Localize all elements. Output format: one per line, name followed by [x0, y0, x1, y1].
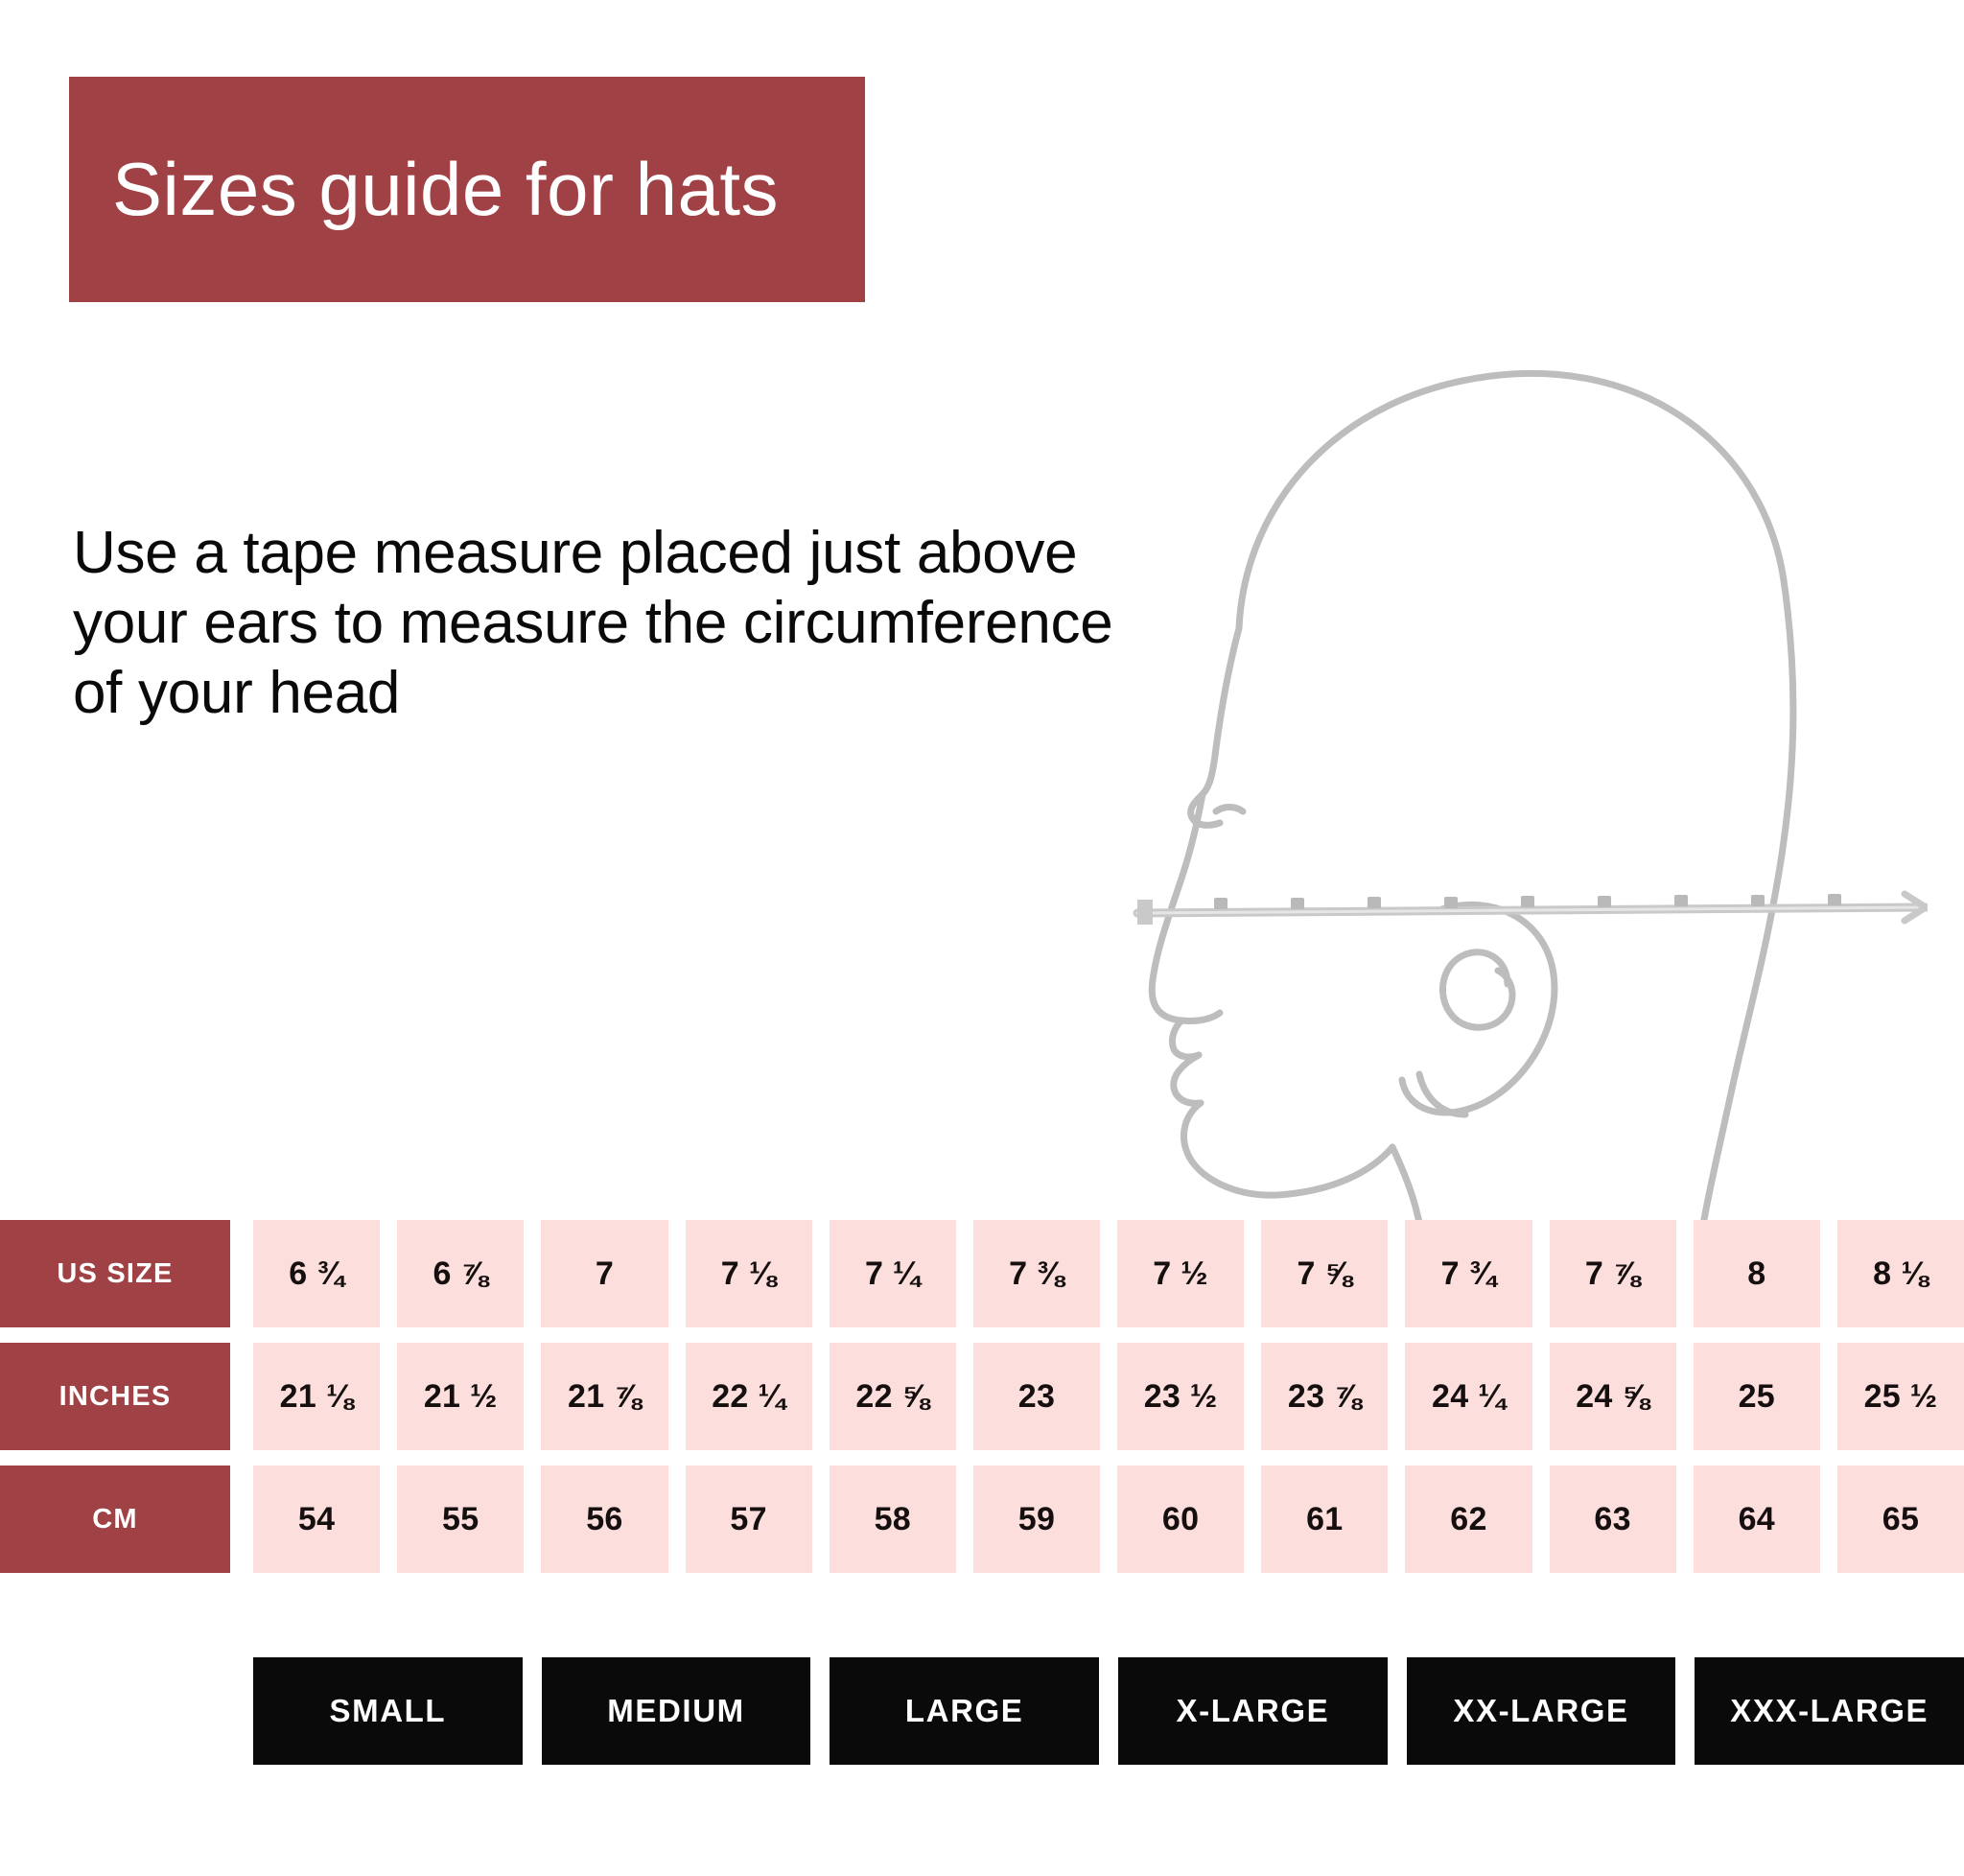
table-cell: 57 [686, 1466, 812, 1573]
table-cell: 23 [973, 1343, 1100, 1450]
table-cell: 7 ⅛ [686, 1220, 812, 1327]
table-cell: 23 ⅞ [1261, 1343, 1388, 1450]
table-cell: 8 ⅛ [1837, 1220, 1964, 1327]
size-chip-medium: MEDIUM [542, 1657, 811, 1765]
table-cell: 63 [1550, 1466, 1676, 1573]
row-cells-cm: 54 55 56 57 58 59 60 61 62 63 64 65 [253, 1466, 1964, 1573]
size-chip-large: LARGE [830, 1657, 1099, 1765]
head-outline-icon [1132, 336, 1928, 1247]
table-cell: 22 ⅝ [830, 1343, 956, 1450]
size-chip-xx-large: XX-LARGE [1407, 1657, 1676, 1765]
size-table: US SIZE 6 ¾ 6 ⅞ 7 7 ⅛ 7 ¼ 7 ⅜ 7 ½ 7 ⅝ 7 … [0, 1220, 1964, 1588]
size-chip-xxx-large: XXX-LARGE [1695, 1657, 1964, 1765]
table-cell: 62 [1405, 1466, 1531, 1573]
row-header-us-size: US SIZE [0, 1220, 230, 1327]
size-name-row: SMALL MEDIUM LARGE X-LARGE XX-LARGE XXX-… [253, 1657, 1964, 1765]
table-cell: 58 [830, 1466, 956, 1573]
table-cell: 23 ½ [1117, 1343, 1244, 1450]
table-cell: 60 [1117, 1466, 1244, 1573]
table-cell: 21 ⅞ [541, 1343, 667, 1450]
table-cell: 7 ⅝ [1261, 1220, 1388, 1327]
table-cell: 54 [253, 1466, 380, 1573]
row-cells-inches: 21 ⅛ 21 ½ 21 ⅞ 22 ¼ 22 ⅝ 23 23 ½ 23 ⅞ 24… [253, 1343, 1964, 1450]
table-cell: 7 ⅞ [1550, 1220, 1676, 1327]
table-row: US SIZE 6 ¾ 6 ⅞ 7 7 ⅛ 7 ¼ 7 ⅜ 7 ½ 7 ⅝ 7 … [0, 1220, 1964, 1327]
table-cell: 24 ¼ [1405, 1343, 1531, 1450]
table-cell: 61 [1261, 1466, 1388, 1573]
instruction-text: Use a tape measure placed just above you… [73, 518, 1137, 728]
table-cell: 7 ½ [1117, 1220, 1244, 1327]
size-guide-page: Sizes guide for hats Use a tape measure … [0, 0, 1964, 1876]
table-cell: 25 ½ [1837, 1343, 1964, 1450]
table-row: CM 54 55 56 57 58 59 60 61 62 63 64 65 [0, 1466, 1964, 1573]
table-cell: 7 ¾ [1405, 1220, 1531, 1327]
table-cell: 6 ⅞ [397, 1220, 524, 1327]
tape-measure-icon [1137, 894, 1926, 925]
page-title: Sizes guide for hats [69, 146, 779, 233]
row-header-inches: INCHES [0, 1343, 230, 1450]
table-cell: 56 [541, 1466, 667, 1573]
table-cell: 59 [973, 1466, 1100, 1573]
size-chip-small: SMALL [253, 1657, 523, 1765]
table-row: INCHES 21 ⅛ 21 ½ 21 ⅞ 22 ¼ 22 ⅝ 23 23 ½ … [0, 1343, 1964, 1450]
table-cell: 21 ⅛ [253, 1343, 380, 1450]
size-chip-x-large: X-LARGE [1118, 1657, 1388, 1765]
table-cell: 21 ½ [397, 1343, 524, 1450]
title-banner: Sizes guide for hats [69, 77, 865, 302]
row-cells-us-size: 6 ¾ 6 ⅞ 7 7 ⅛ 7 ¼ 7 ⅜ 7 ½ 7 ⅝ 7 ¾ 7 ⅞ 8 … [253, 1220, 1964, 1327]
table-cell: 22 ¼ [686, 1343, 812, 1450]
table-cell: 25 [1694, 1343, 1820, 1450]
table-cell: 7 ¼ [830, 1220, 956, 1327]
row-header-cm: CM [0, 1466, 230, 1573]
table-cell: 65 [1837, 1466, 1964, 1573]
head-profile-illustration [1132, 336, 1928, 1247]
table-cell: 55 [397, 1466, 524, 1573]
table-cell: 24 ⅝ [1550, 1343, 1676, 1450]
table-cell: 64 [1694, 1466, 1820, 1573]
table-cell: 6 ¾ [253, 1220, 380, 1327]
table-cell: 8 [1694, 1220, 1820, 1327]
table-cell: 7 [541, 1220, 667, 1327]
table-cell: 7 ⅜ [973, 1220, 1100, 1327]
